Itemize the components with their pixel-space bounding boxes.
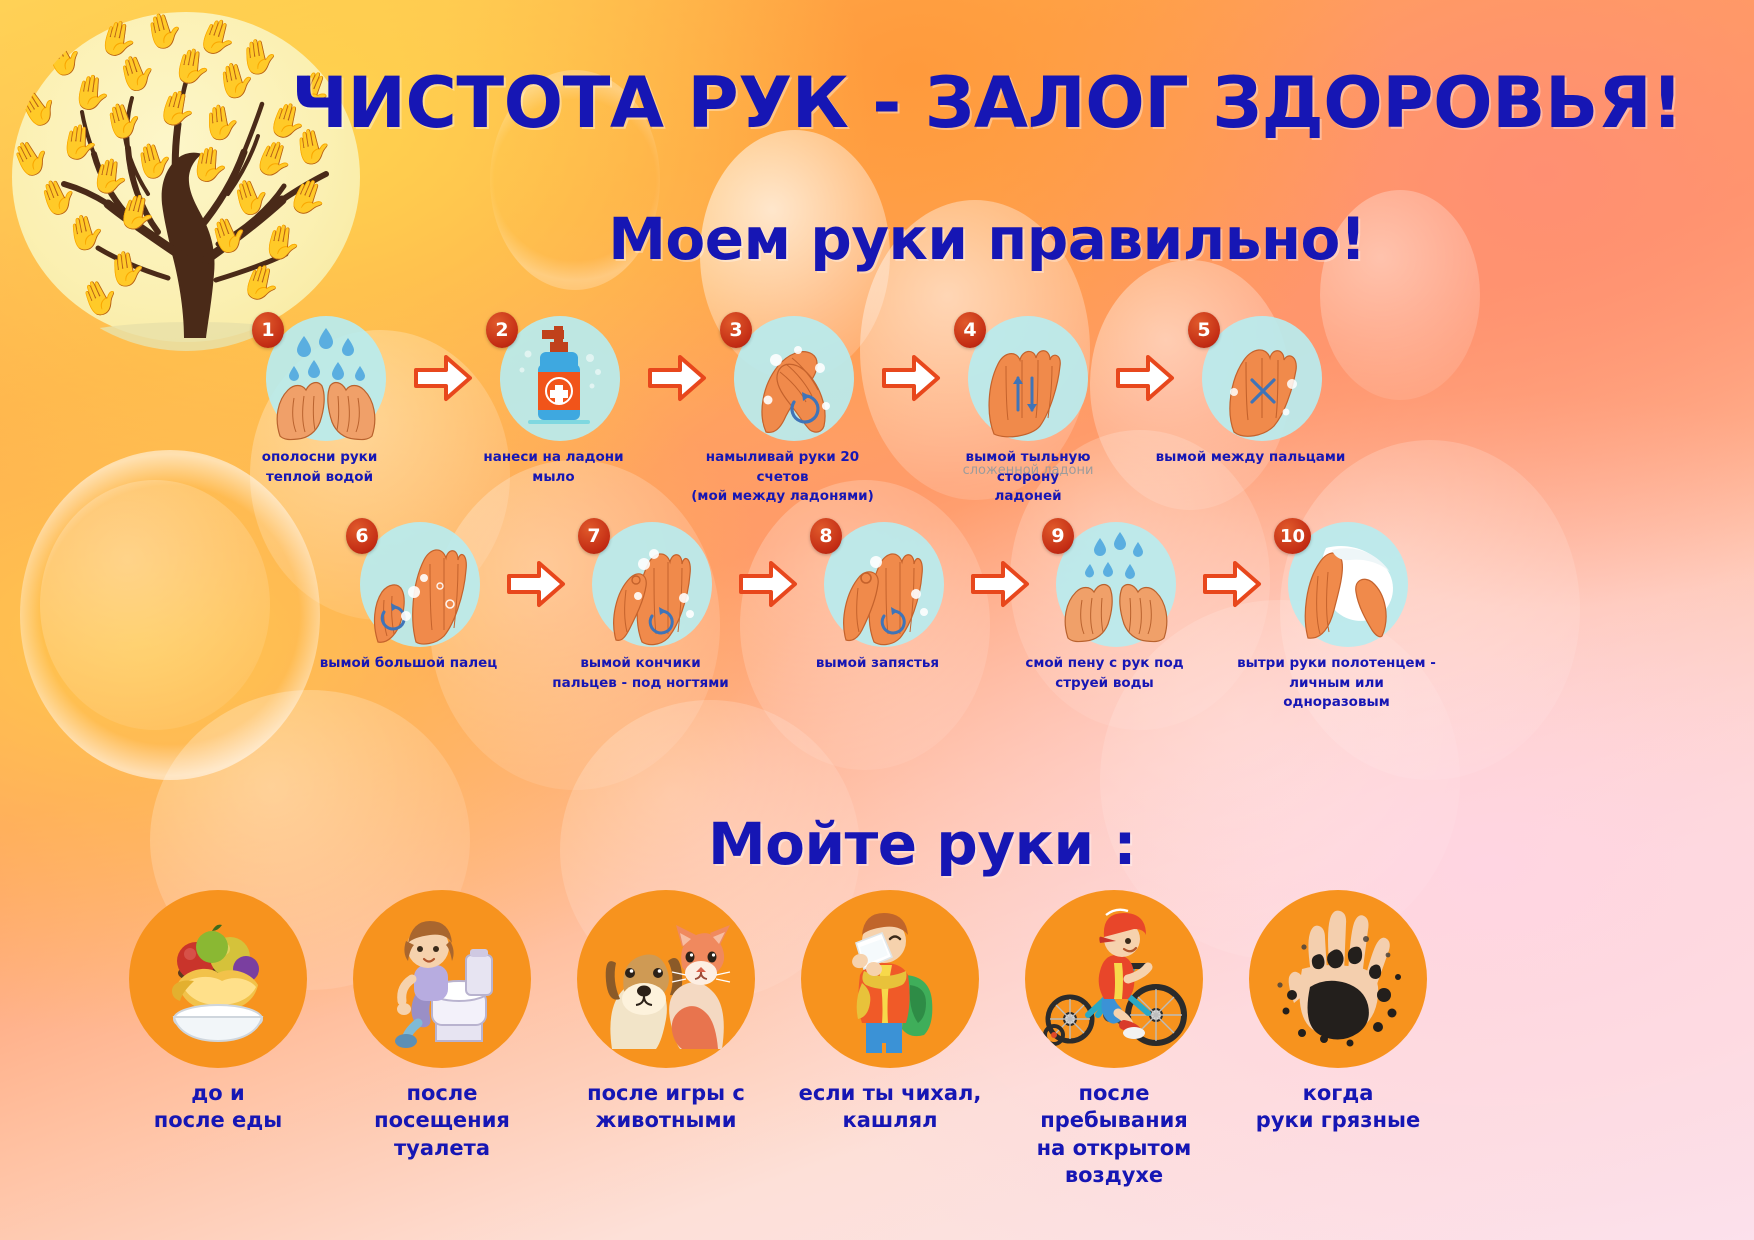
step-number-badge: 9 — [1042, 518, 1074, 554]
step-caption: нанеси на ладони мыло — [461, 448, 647, 487]
arrow-right-icon — [1108, 312, 1182, 444]
step-number-badge: 8 — [810, 518, 842, 554]
when-item-after-sneezing: если ты чихал, кашлял — [790, 890, 990, 1189]
svg-text:✋: ✋ — [186, 142, 233, 188]
svg-text:✋: ✋ — [211, 57, 261, 105]
dirty-hand-icon — [1258, 899, 1418, 1059]
when-item-after-outdoors: после пребывания на открытом воздухе — [1014, 890, 1214, 1189]
step-caption: намыливай руки 20 счетов (мой между ладо… — [680, 448, 886, 507]
wash-step-3: 3 — [714, 312, 874, 507]
sneezing-boy-icon — [810, 899, 970, 1059]
when-disc — [577, 890, 755, 1068]
arrow-right-icon — [874, 312, 948, 444]
step-caption: вымой запястья — [785, 654, 971, 674]
when-caption: если ты чихал, кашлял — [799, 1080, 982, 1135]
svg-text:✋: ✋ — [151, 85, 202, 134]
step-caption: вымой кончики пальцев - под ногтями — [538, 654, 744, 693]
when-disc — [353, 890, 531, 1068]
step-artwork: 7 — [576, 518, 728, 650]
handprint-tree-logo: ✋ ✋ ✋ ✋ ✋ ✋ ✋ ✋ ✋ ✋ ✋ ✋ ✋ ✋ ✋ ✋ ✋ — [8, 8, 376, 356]
when-item-before-after-meals: до и после еды — [118, 890, 318, 1189]
wash-step-1: 1 — [246, 312, 406, 487]
when-heading: Мойте руки : — [708, 810, 1136, 878]
wash-step-2: 2 нанеси — [480, 312, 640, 487]
when-item-after-toilet: после посещения туалета — [342, 890, 542, 1189]
svg-text:✋: ✋ — [168, 44, 217, 91]
step-caption: вытри руки полотенцем - личным или однор… — [1234, 654, 1440, 713]
svg-text:✋: ✋ — [258, 220, 307, 267]
step-caption: ополосни руки теплой водой — [227, 448, 413, 487]
svg-text:✋: ✋ — [8, 131, 59, 186]
step-artwork: 5 — [1186, 312, 1338, 444]
step-caption: вымой тыльную сторону ладоней — [935, 448, 1121, 507]
step-artwork: 8 — [808, 518, 960, 650]
wash-step-5: 5 — [1182, 312, 1342, 468]
arrow-right-icon — [964, 518, 1036, 650]
arrow-right-icon — [1196, 518, 1268, 650]
step-number-badge: 10 — [1274, 518, 1311, 554]
step-number-badge: 6 — [346, 518, 378, 554]
step-number-badge: 5 — [1188, 312, 1220, 348]
svg-text:✋: ✋ — [235, 258, 287, 308]
when-disc — [1249, 890, 1427, 1068]
poster-root: ✋ ✋ ✋ ✋ ✋ ✋ ✋ ✋ ✋ ✋ ✋ ✋ ✋ ✋ ✋ ✋ ✋ — [0, 0, 1754, 1240]
step-number-badge: 7 — [578, 518, 610, 554]
wash-step-10: 10 вытри руки полотенцем - личным или од… — [1268, 518, 1428, 713]
wash-step-6: 6 — [340, 518, 500, 674]
wash-step-4: 4 — [948, 312, 1108, 507]
arrow-right-icon — [732, 518, 804, 650]
step-caption: вымой большой палец — [306, 654, 512, 674]
when-disc — [129, 890, 307, 1068]
step-number-badge: 3 — [720, 312, 752, 348]
step-artwork: 10 — [1272, 518, 1424, 650]
arrow-right-icon — [406, 312, 480, 444]
when-to-wash-row: до и после еды — [118, 890, 1438, 1189]
fruit-bowl-icon — [138, 899, 298, 1059]
wash-step-9: 9 — [1036, 518, 1196, 693]
when-caption: после пребывания на открытом воздухе — [1014, 1080, 1214, 1189]
when-caption: после посещения туалета — [342, 1080, 542, 1162]
step-artwork: 1 — [250, 312, 402, 444]
wash-steps-row-2: 6 — [340, 518, 1428, 713]
when-item-after-animals: после игры с животными — [566, 890, 766, 1189]
when-item-dirty-hands: когда руки грязные — [1238, 890, 1438, 1189]
child-on-bicycle-icon — [1032, 897, 1196, 1061]
handprint-tree-icon: ✋ ✋ ✋ ✋ ✋ ✋ ✋ ✋ ✋ ✋ ✋ ✋ ✋ ✋ ✋ ✋ ✋ — [8, 8, 376, 356]
arrow-right-icon — [500, 518, 572, 650]
step-caption: вымой между пальцами — [1148, 448, 1354, 468]
arrow-right-icon — [640, 312, 714, 444]
svg-text:✋: ✋ — [10, 80, 67, 136]
step-artwork: 6 — [344, 518, 496, 650]
child-on-toilet-icon — [362, 899, 522, 1059]
step-artwork: 9 — [1040, 518, 1192, 650]
dog-and-cat-icon — [586, 899, 746, 1059]
step-caption: смой пену с рук под струей воды — [1002, 654, 1208, 693]
when-caption: до и после еды — [154, 1080, 283, 1135]
svg-text:✋: ✋ — [198, 101, 244, 145]
bokeh-circle — [40, 480, 270, 730]
when-disc — [1025, 890, 1203, 1068]
step-artwork: 3 — [718, 312, 870, 444]
when-disc — [801, 890, 979, 1068]
step-number-badge: 1 — [252, 312, 284, 348]
step-artwork: 4 — [952, 312, 1104, 444]
poster-subtitle: Моем руки правильно! — [608, 205, 1366, 273]
wash-step-8: 8 — [804, 518, 964, 674]
wash-steps-row-1: 1 — [246, 312, 1342, 507]
step-number-badge: 2 — [486, 312, 518, 348]
poster-title: ЧИСТОТА РУК - ЗАЛОГ ЗДОРОВЬЯ! — [291, 62, 1682, 144]
step-number-badge: 4 — [954, 312, 986, 348]
when-caption: когда руки грязные — [1256, 1080, 1420, 1135]
when-caption: после игры с животными — [587, 1080, 745, 1135]
wash-step-7: 7 — [572, 518, 732, 693]
step-artwork: 2 — [484, 312, 636, 444]
